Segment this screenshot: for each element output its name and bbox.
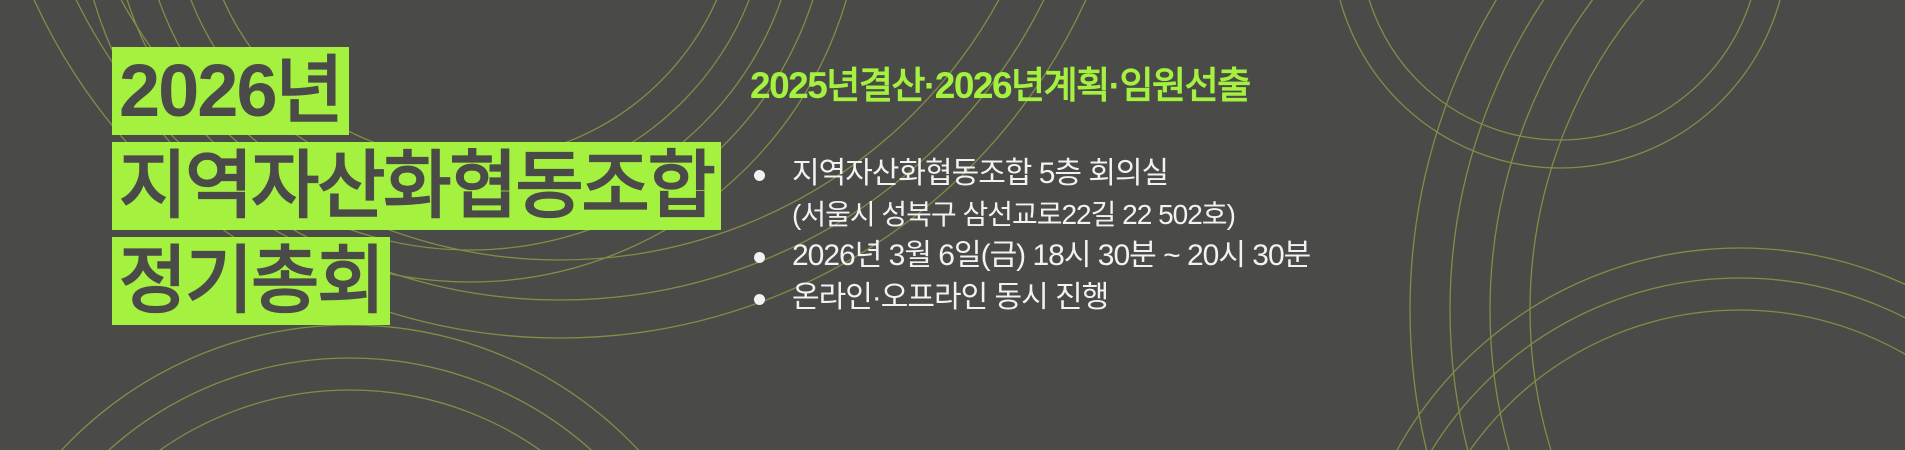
list-item: 2026년 3월 6일(금) 18시 30분 ~ 20시 30분 (750, 235, 1310, 277)
list-item: 지역자산화협동조합 5층 회의실 (서울시 성북구 삼선교로22길 22 502… (750, 153, 1310, 235)
bullet-dot-icon (754, 294, 765, 305)
detail-format: 온라인·오프라인 동시 진행 (750, 277, 1310, 319)
banner-subtitle: 2025년결산·2026년계획·임원선출 (750, 62, 1310, 110)
detail-location: 지역자산화협동조합 5층 회의실 (750, 153, 1310, 195)
event-banner: 2026년 지역자산화협동조합 정기총회 2025년결산·2026년계획·임원선… (0, 0, 1905, 450)
detail-address: (서울시 성북구 삼선교로22길 22 502호) (750, 195, 1310, 235)
title-line-year: 2026년 (112, 47, 349, 135)
detail-format-text: 온라인·오프라인 동시 진행 (792, 281, 1108, 314)
detail-location-text: 지역자산화협동조합 5층 회의실 (792, 157, 1168, 190)
detail-list: 지역자산화협동조합 5층 회의실 (서울시 성북구 삼선교로22길 22 502… (750, 153, 1310, 319)
banner-details: 2025년결산·2026년계획·임원선출 지역자산화협동조합 5층 회의실 (서… (750, 62, 1310, 319)
detail-datetime: 2026년 3월 6일(금) 18시 30분 ~ 20시 30분 (750, 235, 1310, 277)
list-item: 온라인·오프라인 동시 진행 (750, 277, 1310, 319)
title-line-event: 정기총회 (112, 237, 390, 325)
banner-title: 2026년 지역자산화협동조합 정기총회 (112, 47, 721, 325)
bullet-dot-icon (754, 252, 765, 263)
bullet-dot-icon (754, 170, 765, 181)
title-line-organization: 지역자산화협동조합 (112, 142, 721, 230)
detail-datetime-text: 2026년 3월 6일(금) 18시 30분 ~ 20시 30분 (792, 239, 1310, 272)
